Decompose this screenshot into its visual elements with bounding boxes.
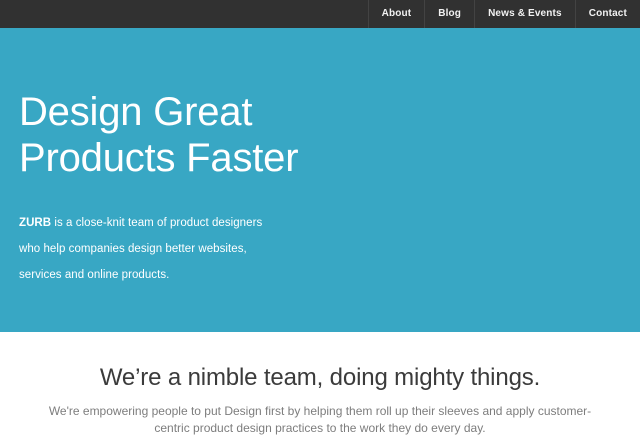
hero-title: Design Great Products Faster <box>19 90 439 181</box>
top-navigation-bar: About Blog News & Events Contact <box>0 0 640 28</box>
hero-description: ZURB is a close-knit team of product des… <box>19 181 439 289</box>
page-root: About Blog News & Events Contact Design … <box>0 0 640 440</box>
section-description-line-2: centric product design practices to the … <box>30 420 610 437</box>
hero-content: Design Great Products Faster ZURB is a c… <box>19 90 439 289</box>
section-title: We’re a nimble team, doing mighty things… <box>0 332 640 391</box>
hero-title-line-2: Products Faster <box>19 136 439 182</box>
nav-item-blog[interactable]: Blog <box>424 0 474 28</box>
nav-item-contact[interactable]: Contact <box>575 0 640 28</box>
hero-description-line-3: services and online products. <box>19 263 439 289</box>
nav-item-news-and-events[interactable]: News & Events <box>474 0 575 28</box>
hero-description-line-2: who help companies design better website… <box>19 237 439 263</box>
hero-banner: Design Great Products Faster ZURB is a c… <box>0 28 640 332</box>
hero-description-line-1: ZURB is a close-knit team of product des… <box>19 211 439 237</box>
hero-title-line-1: Design Great <box>19 90 439 136</box>
hero-description-line-1-rest: is a close-knit team of product designer… <box>51 217 262 229</box>
brand-name: ZURB <box>19 217 51 229</box>
section-description: We're empowering people to put Design fi… <box>30 391 610 437</box>
section-description-line-1: We're empowering people to put Design fi… <box>30 403 610 420</box>
nav-menu: About Blog News & Events Contact <box>368 0 640 28</box>
team-intro-section: We’re a nimble team, doing mighty things… <box>0 332 640 440</box>
nav-item-about[interactable]: About <box>368 0 425 28</box>
